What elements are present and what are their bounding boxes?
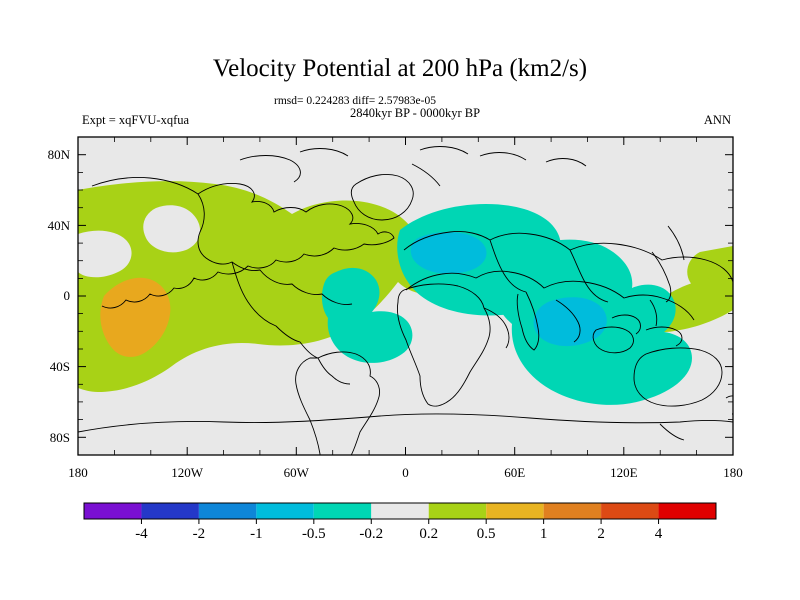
y-tick-label: 80S — [50, 430, 70, 445]
y-tick-label: 80N — [48, 147, 71, 162]
colorbar-tick-label: -0.5 — [302, 526, 326, 542]
map-plot-area: 80N 40N 0 40S 80S 180 120W 60W 0 60E 120… — [48, 137, 743, 480]
colorbar-tick-label: -0.2 — [359, 526, 383, 542]
colorbar-tick-label: -1 — [250, 526, 263, 542]
colorbar-band — [429, 503, 486, 519]
colorbar-band — [659, 503, 716, 519]
colorbar-bands — [84, 503, 716, 519]
colorbar-band — [199, 503, 256, 519]
colorbar-band — [544, 503, 601, 519]
experiment-label: Expt = xqFVU-xqfua — [82, 113, 189, 127]
colorbar-tick-label: -4 — [135, 526, 148, 542]
y-tick-label: 0 — [64, 288, 71, 303]
x-tick-label: 0 — [402, 465, 409, 480]
colorbar-tick-label: -2 — [193, 526, 206, 542]
x-tick-label: 180 — [68, 465, 88, 480]
colorbar-band — [601, 503, 658, 519]
colorbar-band — [84, 503, 141, 519]
colorbar-band — [256, 503, 313, 519]
colorbar-tick-label: 4 — [655, 526, 663, 542]
x-tick-label: 120E — [610, 465, 638, 480]
colorbar-tick-label: 0.5 — [477, 526, 496, 542]
colorbar-band — [314, 503, 371, 519]
season-label: ANN — [704, 113, 731, 127]
y-tick-label: 40N — [48, 218, 71, 233]
colorbar-band — [141, 503, 198, 519]
colorbar-band — [486, 503, 543, 519]
x-tick-label: 180 — [723, 465, 743, 480]
colorbar-band — [371, 503, 428, 519]
colorbar-tick-label: 2 — [597, 526, 605, 542]
colorbar-tick-label: 0.2 — [419, 526, 438, 542]
velocity-potential-figure: Velocity Potential at 200 hPa (km2/s) rm… — [0, 0, 800, 600]
page-title: Velocity Potential at 200 hPa (km2/s) — [213, 55, 587, 82]
x-tick-label: 120W — [171, 465, 204, 480]
x-tick-label: 60W — [284, 465, 310, 480]
x-tick-label: 60E — [504, 465, 525, 480]
period-line: 2840kyr BP - 0000kyr BP — [350, 106, 480, 120]
y-tick-label: 40S — [50, 359, 70, 374]
colorbar-tick-label: 1 — [540, 526, 548, 542]
